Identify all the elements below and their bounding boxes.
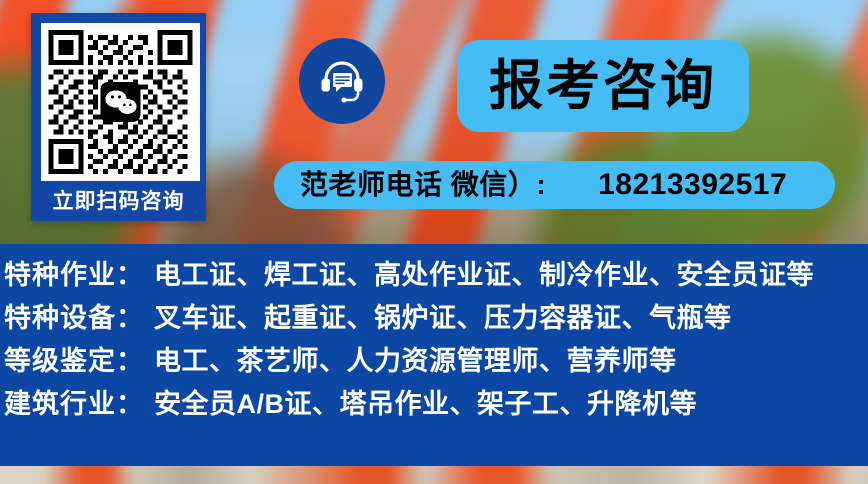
category-label: 建筑行业： [4, 391, 154, 418]
contact-label: 范老师电话 微信）: [300, 171, 546, 199]
consult-cta-button[interactable]: 报考咨询 [457, 40, 749, 132]
category-label: 等级鉴定： [4, 348, 154, 375]
qr-code-card[interactable]: 立即扫码咨询 [31, 13, 206, 221]
headset-support-badge [299, 38, 385, 124]
category-value: 电工证、焊工证、高处作业证、制冷作业、安全员证等 [154, 262, 814, 289]
category-label: 特种设备： [4, 305, 154, 332]
footer-photo-strip [0, 466, 868, 484]
headset-support-icon [314, 53, 370, 109]
qr-code-frame [41, 23, 200, 181]
contact-phone-pill[interactable]: 范老师电话 微信）: 18213392517 [274, 161, 835, 209]
category-label: 特种作业： [4, 262, 154, 289]
certificate-category-panel: 特种作业： 电工证、焊工证、高处作业证、制冷作业、安全员证等 特种设备： 叉车证… [0, 244, 868, 466]
qr-caption-label: 立即扫码咨询 [35, 191, 202, 212]
category-row-special-operations: 特种作业： 电工证、焊工证、高处作业证、制冷作业、安全员证等 [4, 262, 868, 305]
wechat-qr-code-icon [48, 30, 193, 174]
category-value: 安全员A/B证、塔吊作业、架子工、升降机等 [154, 391, 697, 418]
category-row-construction-industry: 建筑行业： 安全员A/B证、塔吊作业、架子工、升降机等 [4, 391, 868, 434]
category-row-special-equipment: 特种设备： 叉车证、起重证、锅炉证、压力容器证、气瓶等 [4, 305, 868, 348]
footer-background-photo [0, 466, 868, 484]
category-value: 电工、茶艺师、人力资源管理师、营养师等 [154, 348, 677, 375]
contact-phone-number[interactable]: 18213392517 [598, 170, 787, 200]
category-row-grade-appraisal: 等级鉴定： 电工、茶艺师、人力资源管理师、营养师等 [4, 348, 868, 391]
promo-poster: 立即扫码咨询 报考咨询 范老师电话 微信）: 18213392517 特 [0, 0, 868, 484]
consult-cta-label: 报考咨询 [489, 59, 717, 113]
category-value: 叉车证、起重证、锅炉证、压力容器证、气瓶等 [154, 305, 732, 332]
